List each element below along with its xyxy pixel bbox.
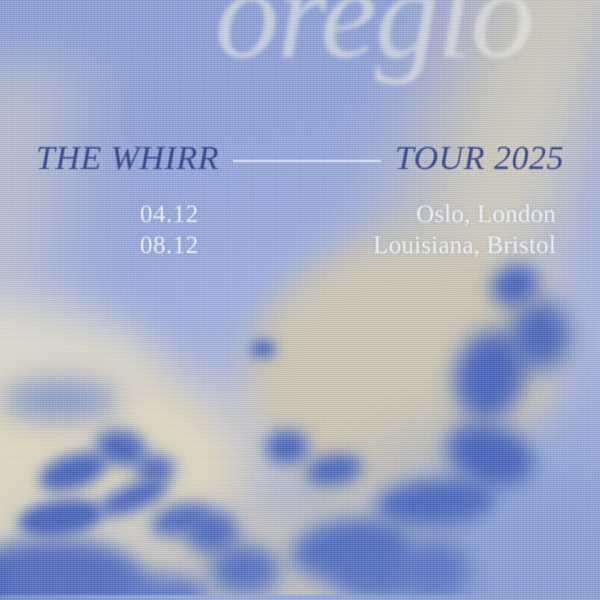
film-grain-overlay [0, 0, 600, 600]
tour-poster: oreglo THE WHIRR TOUR 2025 04.12 Oslo, L… [0, 0, 600, 600]
